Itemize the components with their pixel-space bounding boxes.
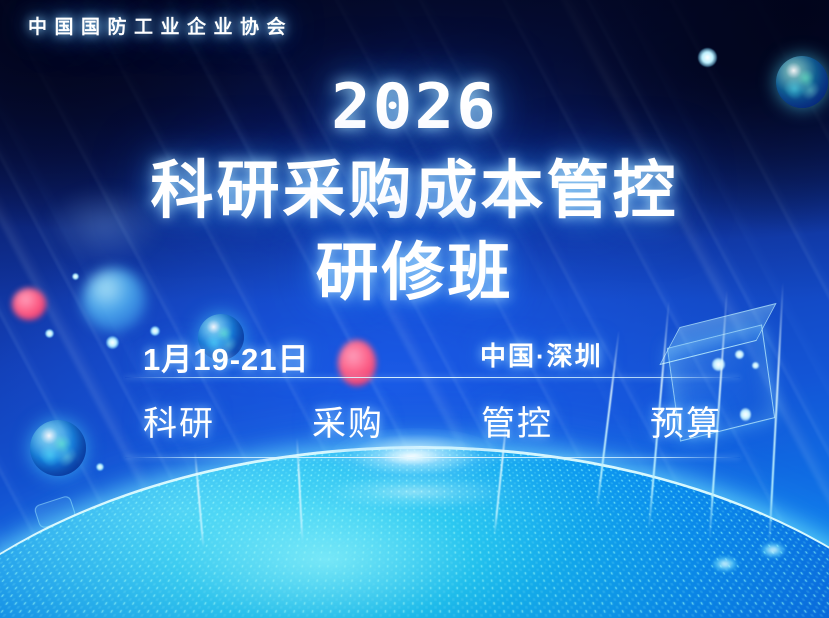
event-location: 中国·深圳 — [480, 336, 603, 373]
light-dot-3 — [45, 329, 54, 338]
light-dot-4 — [106, 336, 119, 349]
cube-sparkle-4 — [740, 408, 751, 421]
cube-sparkle-3 — [752, 362, 759, 369]
keyword-item: 管控 — [481, 396, 553, 445]
divider-line-bottom — [125, 457, 740, 458]
event-meta-row: 1月19-21日 中国·深圳 — [125, 334, 740, 374]
beam-impact-glow-1 — [760, 542, 786, 558]
event-year: 2026 — [0, 70, 829, 143]
beam-impact-glow-2 — [712, 556, 738, 572]
poster-canvas: 中国国防工业企业协会 2026 科研采购成本管控 研修班 1月19-21日 中国… — [0, 0, 829, 618]
event-date: 1月19-21日 — [143, 334, 310, 379]
light-dot-1 — [698, 48, 717, 67]
keyword-item: 预算 — [650, 396, 722, 445]
keyword-item: 采购 — [312, 396, 384, 445]
keyword-item: 科研 — [143, 396, 215, 445]
keyword-list: 科研 采购 管控 预算 — [125, 396, 740, 445]
association-name: 中国国防工业企业协会 — [28, 12, 293, 39]
lower-soft-flare — [300, 470, 530, 514]
title-line-1: 科研采购成本管控 — [0, 140, 829, 231]
title-line-2: 研修班 — [0, 222, 829, 313]
